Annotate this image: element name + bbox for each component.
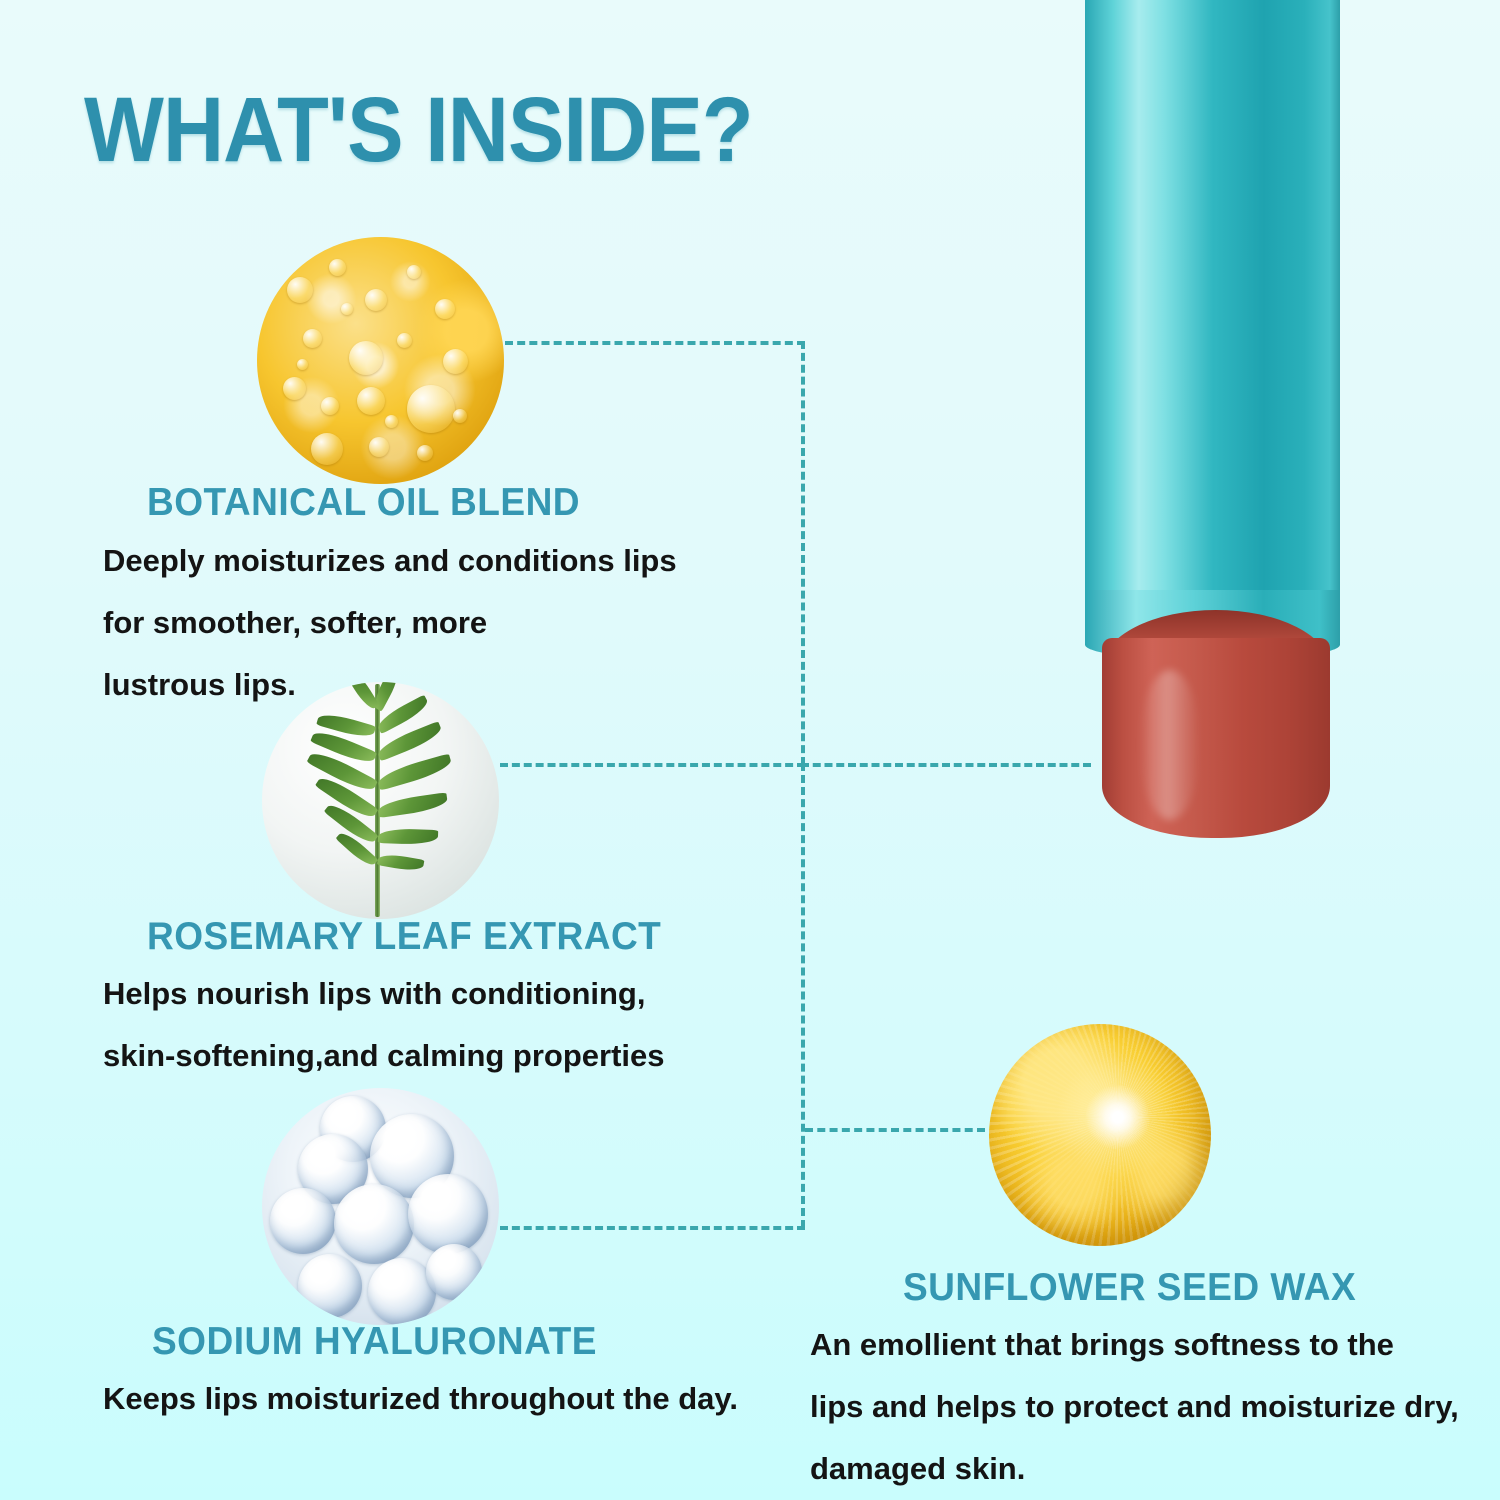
sunflower-seed-wax-image [989,1024,1211,1246]
lipstick-bullet-highlight [1140,670,1200,820]
water-bubble [426,1244,482,1300]
ingredient-title-sunflower-seed-wax: SUNFLOWER SEED WAX [903,1266,1356,1310]
page-title: WHAT'S INSIDE? [84,78,753,183]
sodium-hyaluronate-image [262,1088,499,1325]
desc-line: damaged skin. [810,1438,1459,1500]
rosemary-stem [375,684,380,917]
desc-line: Keeps lips moisturized throughout the da… [103,1368,738,1430]
connector-spine-lower [801,763,805,1228]
ingredient-desc-sunflower-seed-wax: An emollient that brings softness to the… [810,1314,1459,1500]
connector-line-rosemary [500,763,805,767]
infographic-canvas: WHAT'S INSIDE? [0,0,1500,1500]
lipstick-bullet [1102,638,1330,838]
rosemary-leaf [378,828,438,845]
rosemary-leaf [377,852,425,873]
rosemary-leaf-image [262,682,499,919]
lipstick-product [1080,0,1350,850]
desc-line: for smoother, softer, more [103,592,677,654]
connector-line-hyaluronate [500,1226,805,1230]
lipstick-tube [1085,0,1340,620]
ingredient-title-botanical-oil-blend: BOTANICAL OIL BLEND [147,481,580,525]
rosemary-leaf [376,753,454,790]
desc-line: Deeply moisturizes and conditions lips [103,530,677,592]
water-bubble [270,1188,336,1254]
botanical-oil-image [257,237,504,484]
connector-spine-upper [801,341,805,765]
connector-line-lipstick [801,763,1091,767]
ingredient-desc-sodium-hyaluronate: Keeps lips moisturized throughout the da… [103,1368,738,1430]
desc-line: lips and helps to protect and moisturize… [810,1376,1459,1438]
water-bubble [334,1184,414,1264]
rosemary-leaf [377,792,449,818]
ingredient-title-sodium-hyaluronate: SODIUM HYALURONATE [152,1320,597,1364]
desc-line: An emollient that brings softness to the [810,1314,1459,1376]
desc-line: skin-softening,and calming properties [103,1025,665,1087]
water-bubble [408,1174,488,1254]
ingredient-desc-rosemary-leaf-extract: Helps nourish lips with conditioning, sk… [103,963,665,1087]
connector-line-sunflower [805,1128,985,1132]
water-bubble [298,1254,362,1318]
connector-line-oil [505,341,805,345]
ingredient-title-rosemary-leaf-extract: ROSEMARY LEAF EXTRACT [147,915,661,959]
desc-line: Helps nourish lips with conditioning, [103,963,665,1025]
